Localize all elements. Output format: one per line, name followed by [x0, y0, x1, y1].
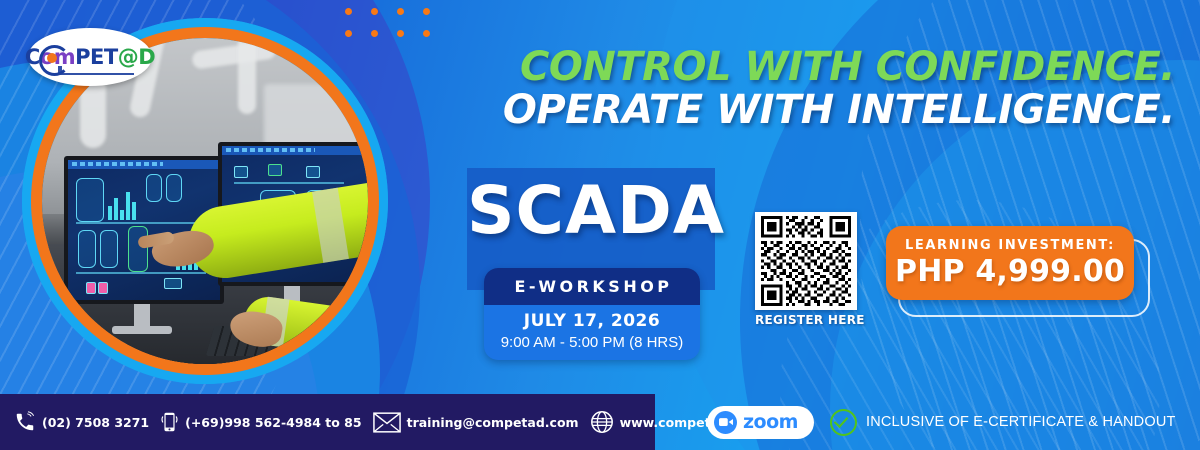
- qr-code-svg: [759, 216, 853, 306]
- dot: [345, 30, 352, 37]
- logo-letter-at: @: [118, 45, 139, 69]
- phone-icon: [14, 411, 36, 433]
- video-camera-icon: [714, 411, 737, 434]
- logo-dot-icon: [47, 53, 57, 63]
- scada-control-room-photo: [42, 38, 368, 364]
- contact-footer-bar: (02) 7508 3271 (+69)998 562-4984 to 85 t…: [0, 394, 655, 450]
- price-badge: LEARNING INVESTMENT: PHP 4,999.00: [886, 226, 1134, 300]
- mobile-phone-icon: [160, 410, 179, 434]
- headline-line-1: CONTROL WITH CONFIDENCE.: [455, 46, 1175, 89]
- dot: [371, 30, 378, 37]
- qr-code-image[interactable]: [755, 212, 857, 310]
- dot: [397, 30, 404, 37]
- qr-register-label: REGISTER HERE: [755, 313, 865, 327]
- email-address: training@competad.com: [407, 415, 579, 430]
- dot: [345, 8, 352, 15]
- headline-block: CONTROL WITH CONFIDENCE. OPERATE WITH IN…: [455, 46, 1175, 132]
- zoom-badge: zoom: [707, 406, 814, 439]
- inclusion-note: INCLUSIVE OF E-CERTIFICATE & HANDOUT: [830, 409, 1176, 436]
- dot: [423, 8, 430, 15]
- workshop-date: JULY 17, 2026: [484, 311, 700, 331]
- logo-letter-d: D: [138, 45, 155, 69]
- dot: [397, 8, 404, 15]
- globe-icon: [590, 410, 614, 434]
- dot: [371, 8, 378, 15]
- dot: [423, 30, 430, 37]
- workshop-time: 9:00 AM - 5:00 PM (8 HRS): [484, 334, 700, 351]
- envelope-icon: [373, 412, 401, 433]
- inclusion-text: INCLUSIVE OF E-CERTIFICATE & HANDOUT: [866, 414, 1176, 430]
- workshop-info-card: E-WORKSHOP JULY 17, 2026 9:00 AM - 5:00 …: [484, 268, 700, 360]
- workshop-format-label: E-WORKSHOP: [484, 268, 700, 305]
- camera-glyph: [719, 417, 733, 427]
- mobile-number: (+69)998 562-4984 to 85: [185, 415, 361, 430]
- logo-letter-c: C: [25, 45, 40, 69]
- competad-logo[interactable]: ComPET@D: [28, 28, 152, 86]
- logo-wave-icon: [58, 66, 134, 75]
- check-circle-icon: [830, 409, 857, 436]
- platform-footer: zoom INCLUSIVE OF E-CERTIFICATE & HANDOU…: [655, 394, 1200, 450]
- landline-number: (02) 7508 3271: [42, 415, 149, 430]
- registration-qr-block[interactable]: REGISTER HERE: [755, 212, 865, 327]
- zoom-label: zoom: [743, 411, 798, 433]
- logo-letters-pet: PET: [75, 45, 118, 69]
- contact-email[interactable]: training@competad.com: [373, 412, 579, 433]
- contact-mobile[interactable]: (+69)998 562-4984 to 85: [160, 410, 361, 434]
- price-label: LEARNING INVESTMENT:: [905, 238, 1115, 253]
- price-value: PHP 4,999.00: [895, 254, 1125, 289]
- course-title: SCADA: [467, 178, 715, 244]
- contact-landline[interactable]: (02) 7508 3271: [14, 411, 149, 433]
- promo-banner: ComPET@D CONTROL WITH CONFIDENCE. OPERAT…: [0, 0, 1200, 450]
- headline-line-2: OPERATE WITH INTELLIGENCE.: [455, 89, 1175, 132]
